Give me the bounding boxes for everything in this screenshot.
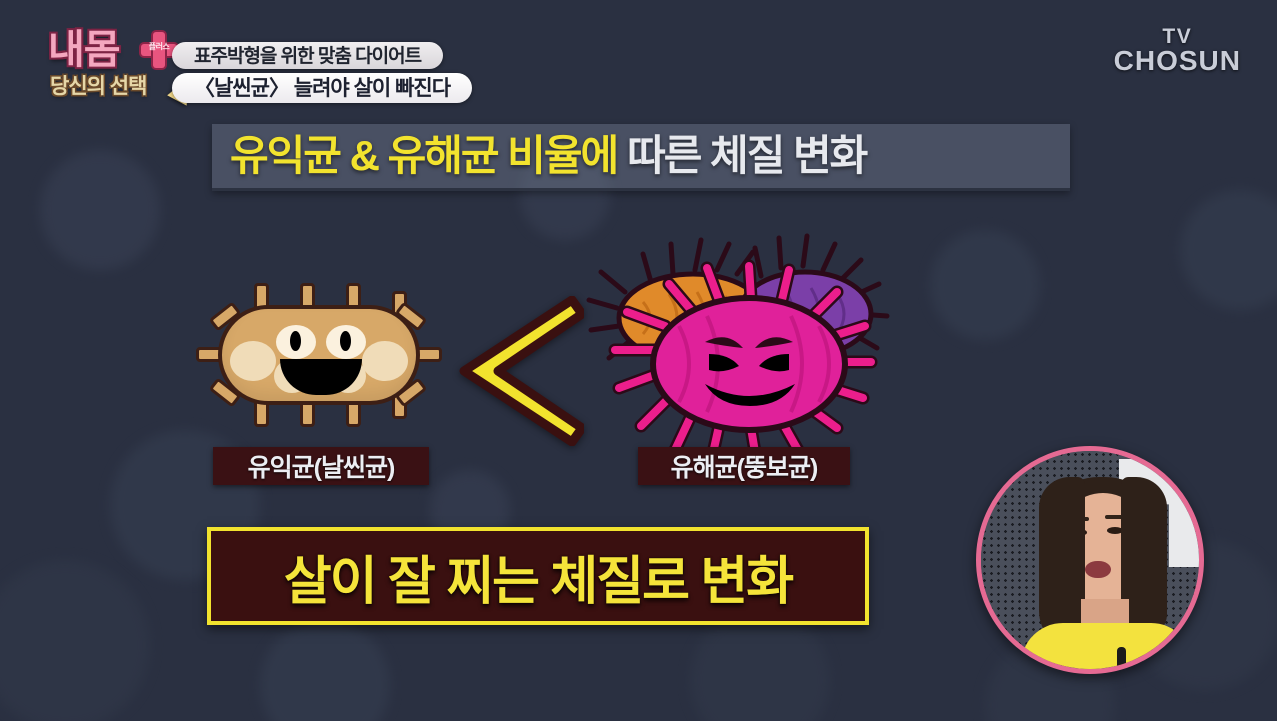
good-bacteria-label-text: 유익균(날씬균) [248, 448, 395, 484]
plus-icon-label: 플러스 [141, 41, 177, 52]
presenter-mouth [1085, 561, 1111, 578]
good-bacteria-label: 유익균(날씬균) [213, 447, 429, 485]
subtitle-text-secondary: 〈날씬균〉 늘려야 살이 빠진다 [194, 72, 450, 102]
presenter-inset: 여성 출연자 [976, 446, 1204, 674]
good-bacteria-body [218, 305, 420, 405]
program-logo-title: 내몸 [48, 30, 120, 70]
good-bacteria-icon [196, 283, 442, 427]
presenter-hand [991, 649, 1031, 674]
program-logo-subtitle: 당신의 선택 [50, 76, 146, 97]
broadcast-screen: 내몸 플러스 당신의 선택 표주박형을 위한 맞춤 다이어트 〈날씬균〉 늘려야… [0, 0, 1277, 721]
headline-panel: 유익균 & 유해균 비율에 따른 체질 변화 [212, 124, 1070, 191]
bottom-banner: 살이 잘 찌는 체질로 변화 [207, 527, 869, 625]
subtitle-bar-primary: 표주박형을 위한 맞춤 다이어트 [172, 42, 443, 69]
microphone-icon [1117, 647, 1126, 669]
bad-bacteria-icon [565, 222, 905, 474]
program-logo: 내몸 플러스 당신의 선택 [44, 24, 204, 116]
headline-rest: 따른 체질 변화 [627, 135, 866, 177]
bottom-banner-text: 살이 잘 찌는 체질로 변화 [284, 539, 792, 614]
presenter-hair-left [1039, 477, 1085, 627]
subtitle-text-primary: 표주박형을 위한 맞춤 다이어트 [194, 41, 421, 68]
broadcaster-line-1: TV [1114, 26, 1241, 47]
bad-bacteria-label: 유해균(뚱보균) [638, 447, 850, 485]
broadcaster-line-2: CHOSUN [1114, 47, 1241, 76]
plus-icon: 플러스 [141, 32, 177, 68]
broadcaster-logo: TV CHOSUN [1114, 26, 1241, 76]
headline-highlight: 유익균 & 유해균 비율에 [230, 135, 617, 177]
bad-bacteria-label-text: 유해균(뚱보균) [671, 448, 818, 484]
subtitle-bar-secondary: 〈날씬균〉 늘려야 살이 빠진다 [172, 73, 472, 103]
